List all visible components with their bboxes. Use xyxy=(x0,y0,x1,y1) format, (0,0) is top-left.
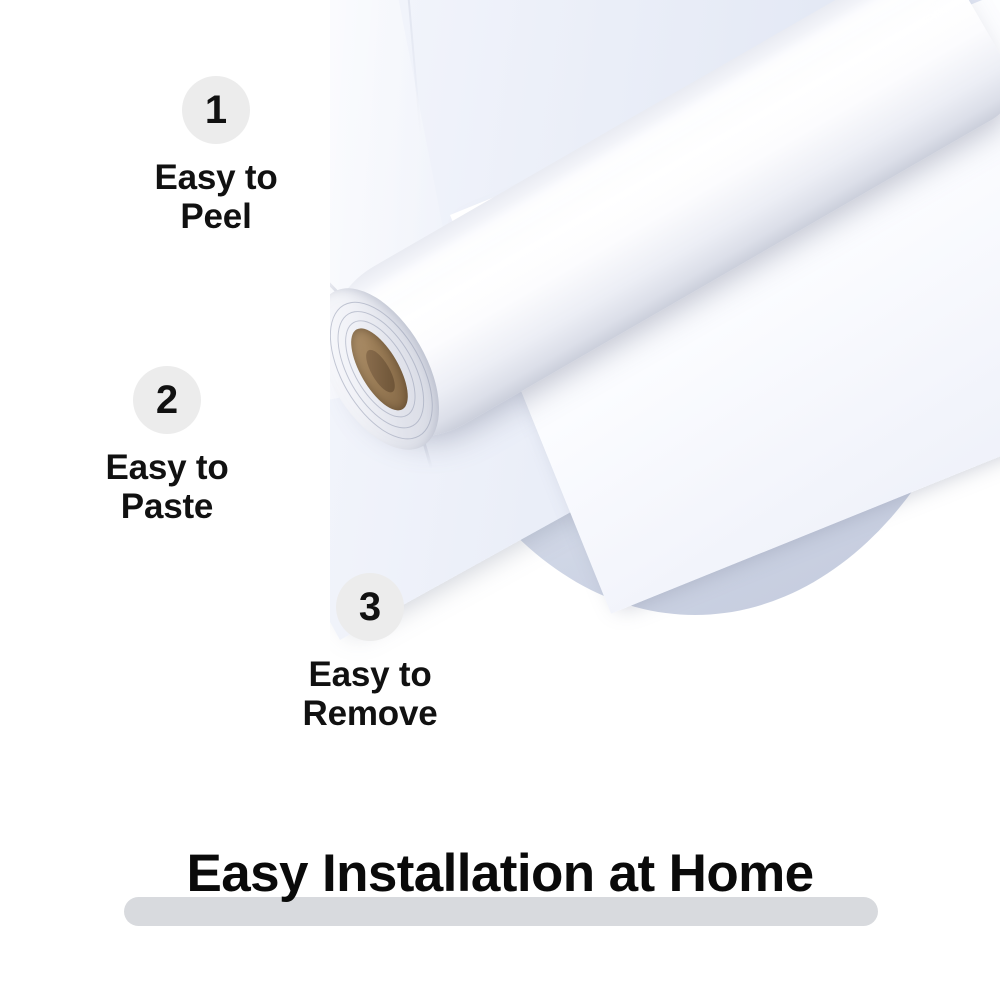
step-callout-2: 2 Easy to Paste xyxy=(57,366,277,526)
step-callout-3: 3 Easy to Remove xyxy=(260,573,480,733)
step-number-badge: 1 xyxy=(182,76,250,144)
step-callout-1: 1 Easy to Peel xyxy=(106,76,326,236)
step-number-badge: 2 xyxy=(133,366,201,434)
step-label: Easy to Paste xyxy=(57,448,277,526)
step-label: Easy to Peel xyxy=(106,158,326,236)
headline-block: Easy Installation at Home xyxy=(0,845,1000,945)
step-number-badge: 3 xyxy=(336,573,404,641)
headline-text: Easy Installation at Home xyxy=(0,845,1000,902)
step-label: Easy to Remove xyxy=(260,655,480,733)
product-feature-image: 1 Easy to Peel 2 Easy to Paste 3 Easy to… xyxy=(0,0,1000,1000)
